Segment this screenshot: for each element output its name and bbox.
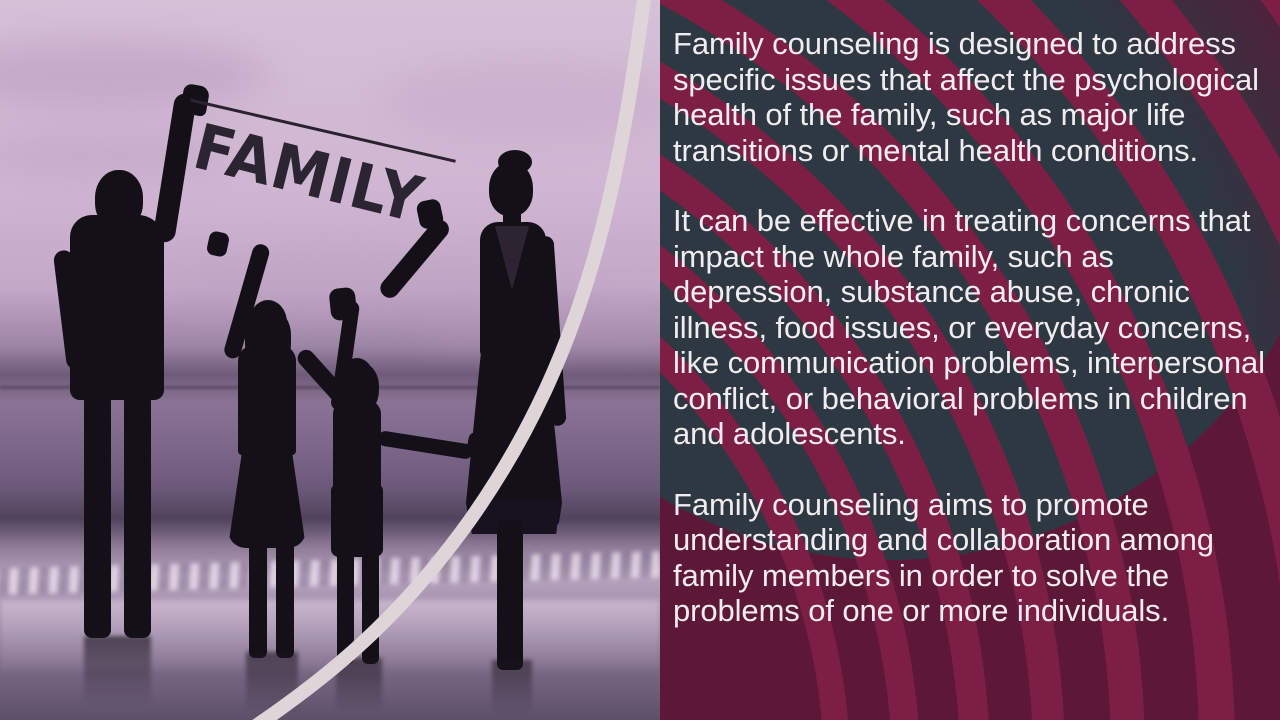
boy-right-leg	[362, 552, 379, 664]
girl-head	[249, 300, 287, 345]
girl-hand	[206, 230, 231, 258]
boy-reflection	[336, 658, 382, 714]
paragraph-2: It can be effective in treating concerns…	[673, 203, 1265, 452]
mother-legs	[497, 520, 523, 670]
boy-shorts	[331, 485, 383, 557]
boy-outstretched-arm	[377, 430, 474, 460]
boy-torso	[333, 400, 381, 498]
boy-left-leg	[337, 552, 354, 664]
banner-label: FAMILY	[187, 112, 429, 236]
paragraph-1: Family counseling is designed to address…	[673, 26, 1265, 168]
girl-left-leg	[249, 540, 267, 658]
mother-reflection	[492, 660, 532, 716]
cloud-wisp	[380, 60, 660, 140]
photo-region: FAMILY	[0, 0, 660, 720]
father-reflection	[84, 636, 151, 706]
paragraph-3: Family counseling aims to promote unders…	[673, 487, 1265, 629]
cloud-wisp	[0, 40, 270, 110]
girl-right-leg	[276, 540, 294, 658]
girl-reflection	[246, 652, 298, 714]
boy-head	[340, 358, 374, 400]
body-text-column: Family counseling is designed to address…	[673, 26, 1265, 629]
father-right-leg	[124, 388, 151, 638]
slide-canvas: FAMILY Family counseling is designed to …	[0, 0, 1280, 720]
beach-family-photo: FAMILY	[0, 0, 660, 720]
father-left-leg	[84, 388, 111, 638]
father-torso	[70, 215, 164, 400]
